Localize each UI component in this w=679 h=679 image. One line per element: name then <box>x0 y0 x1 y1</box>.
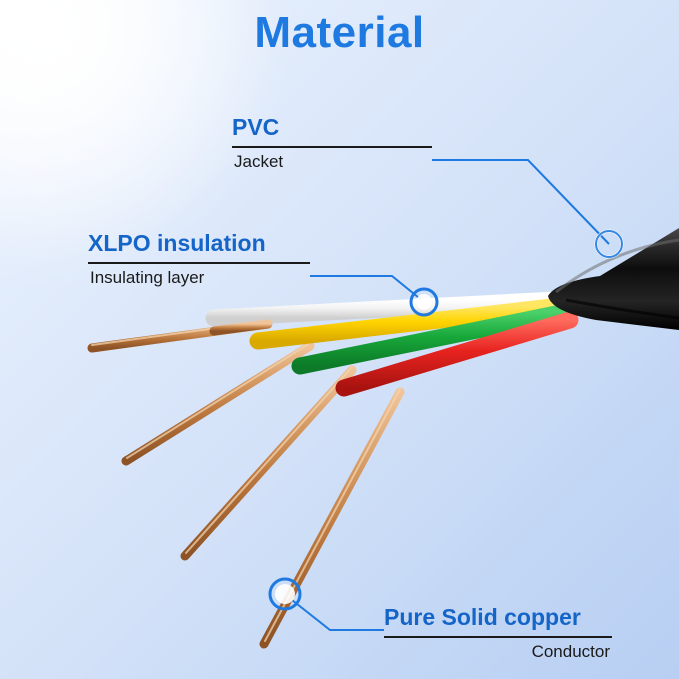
callout-xlpo: XLPO insulation Insulating layer <box>88 230 310 289</box>
callout-pvc-rule <box>232 146 432 148</box>
material-diagram: Material <box>0 0 679 679</box>
leader-line-copper <box>292 600 384 630</box>
callout-xlpo-sub: Insulating layer <box>88 268 310 288</box>
leader-line-pvc <box>432 160 609 244</box>
callout-pvc: PVC Jacket <box>232 114 432 173</box>
callout-copper-heading: Pure Solid copper <box>384 604 612 630</box>
callout-pvc-heading: PVC <box>232 114 432 140</box>
callout-xlpo-rule <box>88 262 310 264</box>
callout-copper-rule <box>384 636 612 638</box>
cable-illustration <box>0 0 679 679</box>
callout-xlpo-heading: XLPO insulation <box>88 230 310 256</box>
callout-copper: Pure Solid copper Conductor <box>384 604 612 663</box>
callout-copper-sub: Conductor <box>384 642 612 662</box>
page-title: Material <box>0 8 679 58</box>
callout-pvc-sub: Jacket <box>232 152 432 172</box>
copper-conductors <box>92 324 400 644</box>
leader-line-xlpo <box>310 276 424 302</box>
